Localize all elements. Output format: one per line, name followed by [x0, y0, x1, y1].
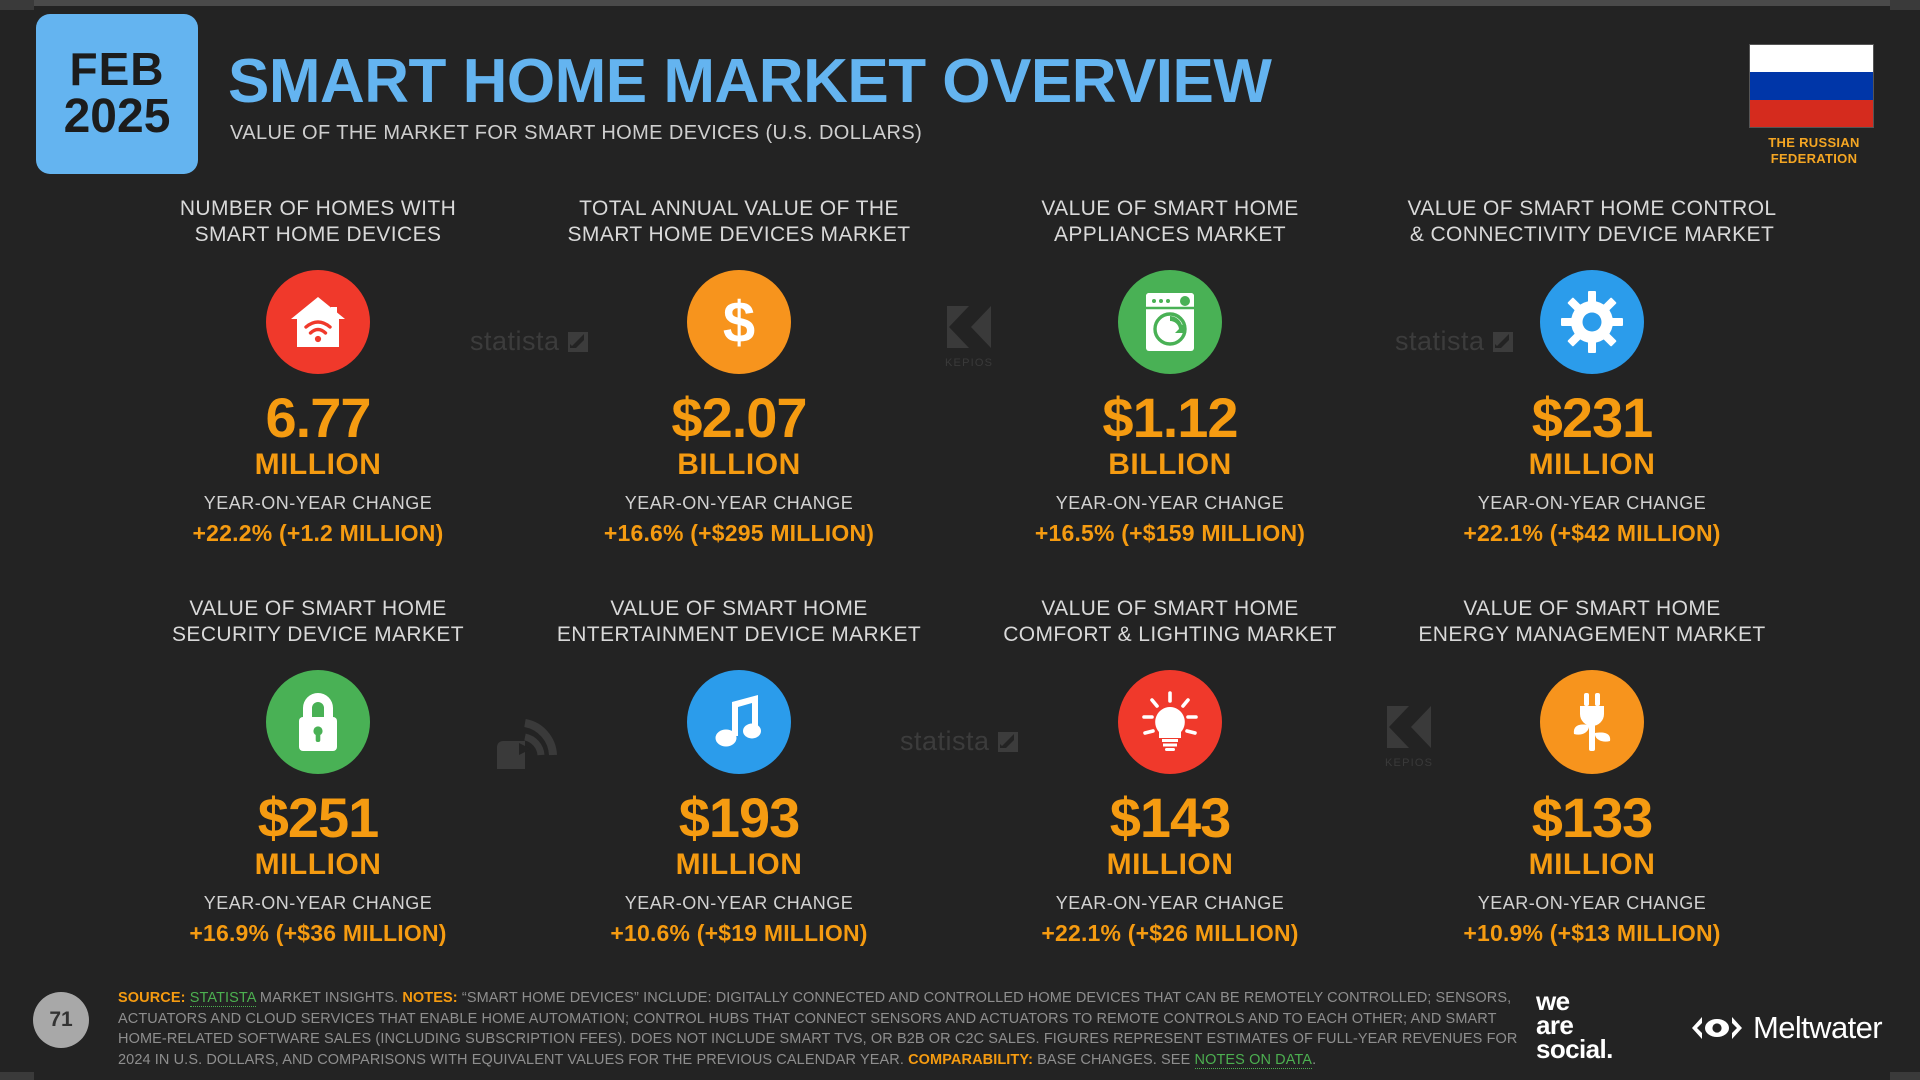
stat-unit: MILLION [98, 848, 538, 881]
flag-band-red [1750, 100, 1873, 127]
yoy-label: YEAR-ON-YEAR CHANGE [1372, 893, 1812, 914]
stat-card-entertainment-device-market: VALUE OF SMART HOME ENTERTAINMENT DEVICE… [519, 596, 959, 996]
yoy-value: +10.9% (+$13 MILLION) [1372, 920, 1812, 947]
power-plug-plant-icon [1540, 670, 1644, 774]
yoy-label: YEAR-ON-YEAR CHANGE [98, 893, 538, 914]
stat-value: $133 [1372, 790, 1812, 846]
notes-label: NOTES: [402, 990, 457, 1006]
notes-on-data-link[interactable]: NOTES ON DATA [1195, 1052, 1313, 1069]
stat-card-row: statista KEPIOS statista [0, 196, 1920, 596]
source-link[interactable]: STATISTA [190, 990, 256, 1007]
yoy-label: YEAR-ON-YEAR CHANGE [1372, 493, 1812, 514]
yoy-label: YEAR-ON-YEAR CHANGE [519, 493, 959, 514]
washing-machine-icon [1118, 270, 1222, 374]
stat-card-title: VALUE OF SMART HOME APPLIANCES MARKET [950, 196, 1390, 252]
meltwater-logo: Meltwater [1690, 1010, 1882, 1046]
flag-band-blue [1750, 72, 1873, 99]
comparability-label: COMPARABILITY: [908, 1052, 1033, 1068]
page-number-badge: 71 [33, 992, 89, 1048]
infographic-slide: FEB 2025 SMART HOME MARKET OVERVIEW VALU… [0, 0, 1920, 1080]
top-edge-bar [34, 0, 1890, 6]
stat-unit: MILLION [98, 448, 538, 481]
stat-card-title: VALUE OF SMART HOME ENERGY MANAGEMENT MA… [1372, 596, 1812, 652]
stat-value: $251 [98, 790, 538, 846]
stat-value: $1.12 [950, 390, 1390, 446]
lock-icon [266, 670, 370, 774]
yoy-value: +22.1% (+$42 MILLION) [1372, 520, 1812, 547]
stat-unit: MILLION [1372, 448, 1812, 481]
yoy-value: +16.6% (+$295 MILLION) [519, 520, 959, 547]
yoy-value: +22.2% (+1.2 MILLION) [98, 520, 538, 547]
yoy-label: YEAR-ON-YEAR CHANGE [950, 493, 1390, 514]
bottom-edge-bar-left [0, 1072, 34, 1080]
flag-band-white [1750, 45, 1873, 72]
stat-card-security-device-market: VALUE OF SMART HOME SECURITY DEVICE MARK… [98, 596, 538, 996]
stat-card-comfort-lighting-market: VALUE OF SMART HOME COMFORT & LIGHTING M… [950, 596, 1390, 996]
source-label: SOURCE: [118, 990, 186, 1006]
we-are-social-logo: we are social. [1536, 989, 1613, 1062]
footer-notes: SOURCE: STATISTA MARKET INSIGHTS. NOTES:… [118, 988, 1518, 1070]
smart-home-wifi-icon [266, 270, 370, 374]
stat-unit: MILLION [519, 848, 959, 881]
stat-value: 6.77 [98, 390, 538, 446]
meltwater-eye-icon [1690, 1015, 1744, 1041]
yoy-label: YEAR-ON-YEAR CHANGE [519, 893, 959, 914]
stat-value: $193 [519, 790, 959, 846]
stat-card-appliances-market: VALUE OF SMART HOME APPLIANCES MARKET [950, 196, 1390, 596]
yoy-value: +16.9% (+$36 MILLION) [98, 920, 538, 947]
stat-card-homes-with-smart-devices: NUMBER OF HOMES WITH SMART HOME DEVICES [98, 196, 538, 596]
stat-value: $143 [950, 790, 1390, 846]
stat-card-title: VALUE OF SMART HOME ENTERTAINMENT DEVICE… [519, 596, 959, 652]
top-edge-bar-left [0, 0, 34, 10]
stat-card-title: TOTAL ANNUAL VALUE OF THE SMART HOME DEV… [519, 196, 959, 252]
page-title: SMART HOME MARKET OVERVIEW [228, 46, 1271, 117]
meltwater-wordmark: Meltwater [1753, 1010, 1882, 1046]
russia-flag-icon [1749, 44, 1874, 128]
stat-card-grid: statista KEPIOS statista [0, 196, 1920, 996]
stat-card-title: VALUE OF SMART HOME CONTROL & CONNECTIVI… [1372, 196, 1812, 252]
page-subtitle: VALUE OF THE MARKET FOR SMART HOME DEVIC… [230, 122, 922, 145]
date-month: FEB [70, 46, 165, 93]
stat-unit: MILLION [950, 848, 1390, 881]
comparability-text: BASE CHANGES. SEE [1037, 1052, 1190, 1068]
date-year: 2025 [64, 93, 171, 142]
yoy-value: +16.5% (+$159 MILLION) [950, 520, 1390, 547]
bottom-edge-bar-right [1890, 1072, 1920, 1080]
yoy-value: +22.1% (+$26 MILLION) [950, 920, 1390, 947]
top-edge-bar-right [1890, 0, 1920, 10]
yoy-label: YEAR-ON-YEAR CHANGE [950, 893, 1390, 914]
stat-card-title: NUMBER OF HOMES WITH SMART HOME DEVICES [98, 196, 538, 252]
source-rest: MARKET INSIGHTS. [260, 990, 398, 1006]
stat-unit: BILLION [950, 448, 1390, 481]
yoy-label: YEAR-ON-YEAR CHANGE [98, 493, 538, 514]
svg-text:$: $ [723, 292, 755, 352]
music-note-icon [687, 670, 791, 774]
lightbulb-icon [1118, 670, 1222, 774]
date-badge: FEB 2025 [36, 14, 198, 174]
stat-value: $231 [1372, 390, 1812, 446]
stat-card-energy-management-market: VALUE OF SMART HOME ENERGY MANAGEMENT MA… [1372, 596, 1812, 996]
stat-card-control-connectivity: VALUE OF SMART HOME CONTROL & CONNECTIVI… [1372, 196, 1812, 596]
stat-unit: BILLION [519, 448, 959, 481]
stat-card-row: statista KEPIOS VALUE OF SMART HOM [0, 596, 1920, 996]
gear-icon [1540, 270, 1644, 374]
footer: 71 SOURCE: STATISTA MARKET INSIGHTS. NOT… [0, 975, 1920, 1080]
stat-unit: MILLION [1372, 848, 1812, 881]
stat-card-title: VALUE OF SMART HOME COMFORT & LIGHTING M… [950, 596, 1390, 652]
stat-card-total-market-value: TOTAL ANNUAL VALUE OF THE SMART HOME DEV… [519, 196, 959, 596]
country-name: THE RUSSIAN FEDERATION [1749, 135, 1879, 167]
dollar-sign-icon: $ [687, 270, 791, 374]
stat-card-title: VALUE OF SMART HOME SECURITY DEVICE MARK… [98, 596, 538, 652]
country-flag-block: THE RUSSIAN FEDERATION [1749, 44, 1879, 167]
stat-value: $2.07 [519, 390, 959, 446]
yoy-value: +10.6% (+$19 MILLION) [519, 920, 959, 947]
